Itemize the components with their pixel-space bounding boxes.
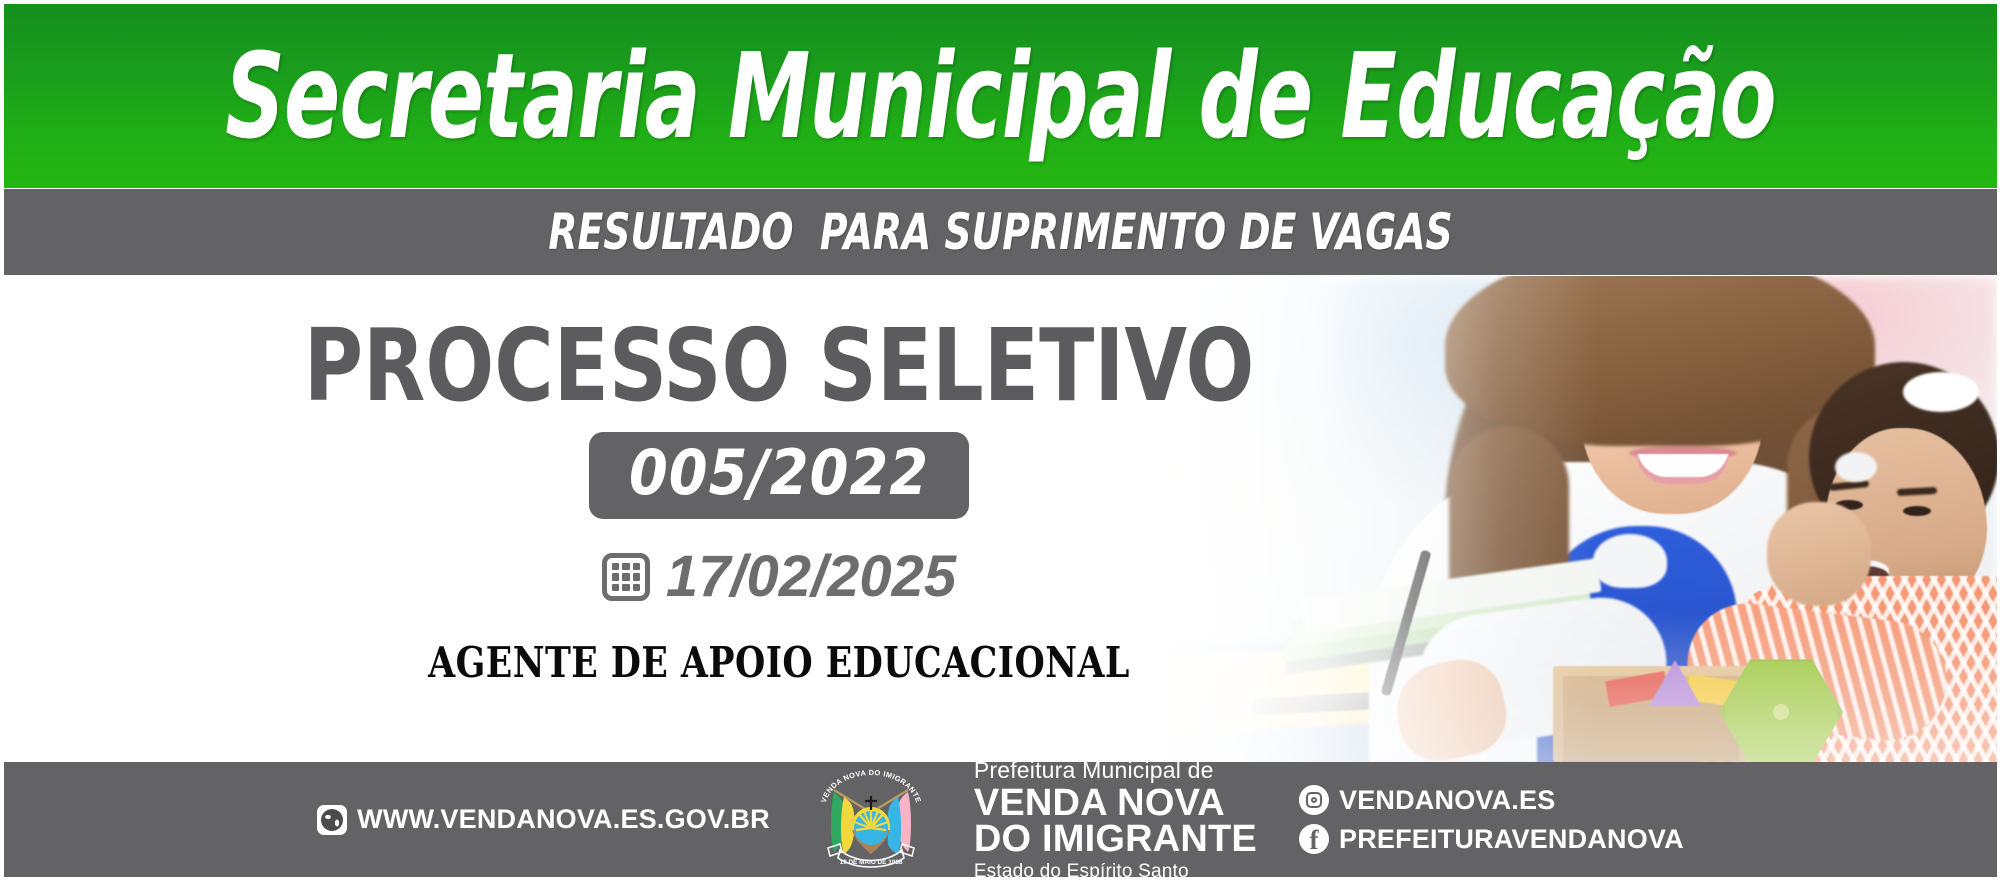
publication-date: 17/02/2025	[666, 548, 956, 606]
page-title: Secretaria Municipal de Educação	[223, 37, 1778, 155]
poster-root: Secretaria Municipal de Educação RESULTA…	[0, 0, 2000, 877]
facebook-handle: PREFEITURAVENDANOVA	[1339, 824, 1684, 855]
brand-name-line1: VENDA NOVA	[974, 784, 1257, 822]
coat-of-arms-icon: VENDA NOVA DO IMIGRANTE	[812, 768, 930, 872]
brand-prefix: Prefeitura Municipal de	[974, 759, 1257, 782]
main-content: PROCESSO SELETIVO 005/2022 17/02/2025 AG…	[4, 276, 1554, 762]
facebook-icon: f	[1299, 824, 1329, 854]
badge-container: 005/2022	[4, 432, 1554, 519]
date-row: 17/02/2025	[4, 548, 1554, 606]
instagram-link[interactable]: VENDANOVA.ES	[1299, 785, 1684, 816]
instagram-handle: VENDANOVA.ES	[1339, 785, 1555, 816]
website-label: WWW.VENDANOVA.ES.GOV.BR	[357, 804, 770, 835]
calendar-icon	[602, 553, 650, 601]
municipality-brand: Prefeitura Municipal de VENDA NOVA DO IM…	[974, 759, 1257, 881]
instagram-icon	[1299, 785, 1329, 815]
footer-bar: WWW.VENDANOVA.ES.GOV.BR VENDA NOVA DO IM…	[4, 762, 1997, 877]
status-badge: 005/2022	[589, 432, 969, 519]
subtitle-text: RESULTADO PARA SUPRIMENTO DE VAGAS	[163, 207, 1837, 257]
social-links: VENDANOVA.ES f PREFEITURAVENDANOVA	[1299, 785, 1684, 855]
brand-name-line2: DO IMIGRANTE	[974, 820, 1257, 858]
role-title: AGENTE DE APOIO EDUCACIONAL	[66, 642, 1492, 684]
subtitle-bar: RESULTADO PARA SUPRIMENTO DE VAGAS	[4, 189, 1997, 275]
facebook-link[interactable]: f PREFEITURAVENDANOVA	[1299, 824, 1684, 855]
globe-icon	[317, 805, 347, 835]
body-area: PROCESSO SELETIVO 005/2022 17/02/2025 AG…	[4, 276, 1997, 762]
main-heading: PROCESSO SELETIVO	[82, 316, 1477, 416]
green-header-bar: Secretaria Municipal de Educação	[4, 4, 1997, 188]
svg-text:19 DE MAIO DE 1988: 19 DE MAIO DE 1988	[839, 859, 902, 866]
footer-content: WWW.VENDANOVA.ES.GOV.BR VENDA NOVA DO IM…	[4, 762, 1997, 877]
brand-state: Estado do Espírito Santo	[974, 862, 1257, 881]
website-link[interactable]: WWW.VENDANOVA.ES.GOV.BR	[317, 804, 770, 835]
